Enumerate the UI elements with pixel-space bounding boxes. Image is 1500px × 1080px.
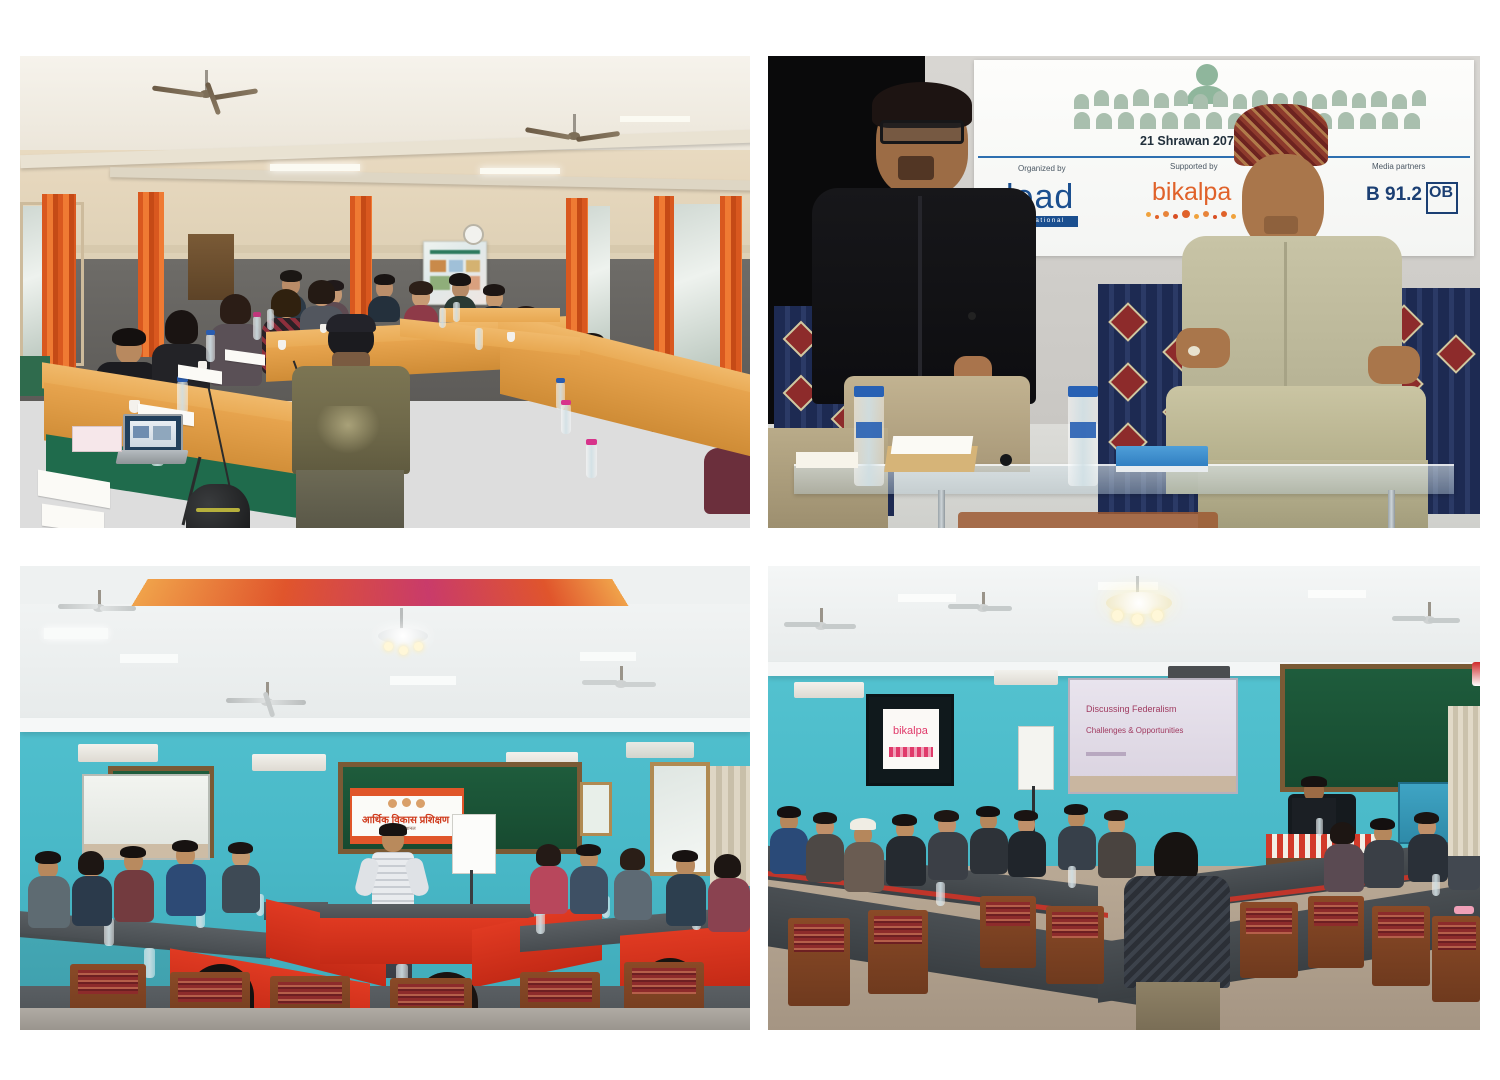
table-lower-shelf [958, 512, 1218, 528]
air-conditioner [626, 742, 694, 758]
organized-by-label: Organized by [1018, 164, 1066, 173]
table-leg [938, 490, 945, 528]
floor [20, 1008, 750, 1030]
backpack [186, 484, 250, 528]
water-bottle [1316, 818, 1323, 836]
bottle-cap [561, 400, 571, 405]
flag-decor [1472, 662, 1480, 686]
box [72, 426, 122, 452]
event-banner: आर्थिक विकास प्रशिक्षण लिड इन्टरनेशनल [350, 788, 464, 844]
media-partner-1: B 91.2 [1366, 184, 1422, 206]
table-leg [1388, 490, 1395, 528]
air-conditioner [78, 744, 158, 762]
lapel-microphone [968, 312, 976, 320]
banner-divider [978, 156, 1470, 158]
photo-top-left [20, 56, 750, 528]
air-conditioner [252, 754, 326, 771]
water-bottle [561, 404, 571, 434]
water-bottle [453, 302, 460, 322]
framed-poster: bikalpa [866, 694, 954, 786]
bottle-cap [854, 386, 884, 397]
water-bottle [177, 381, 188, 413]
pink-item [1454, 906, 1474, 914]
papers [796, 452, 858, 468]
water-bottle [253, 316, 261, 340]
media-partners-label: Media partners [1372, 162, 1425, 171]
flip-chart [452, 814, 496, 874]
curtain [720, 196, 742, 376]
fluorescent-light [898, 594, 956, 602]
photo-bottom-right: bikalpa Discussing Federalism Challenges… [768, 566, 1480, 1030]
water-bottle [936, 882, 945, 906]
photo-bottom-left: आर्थिक विकास प्रशिक्षण लिड इन्टरनेशनल [20, 566, 750, 1030]
fluorescent-light [580, 652, 636, 661]
handout [42, 504, 104, 528]
speaker-hair [1301, 776, 1327, 787]
water-bottle [1068, 394, 1098, 486]
water-bottle [439, 308, 446, 328]
blue-notebook [1116, 446, 1208, 468]
fluorescent-light [620, 116, 690, 122]
event-banner: 21 Shrawan 2074 | Biratnagar Organized b… [974, 60, 1474, 256]
water-bottle [206, 334, 215, 362]
paper-cup [507, 332, 515, 342]
water-bottle [475, 328, 483, 350]
fluorescent-light [480, 168, 560, 174]
air-conditioner [794, 682, 864, 698]
person-icon [1196, 64, 1218, 86]
laptop-screen [123, 414, 183, 455]
air-conditioner [994, 670, 1058, 685]
fluorescent-light [270, 164, 360, 171]
slide-subtitle: Challenges & Opportunities [1086, 726, 1183, 735]
bottle-cap [556, 378, 565, 383]
wall-cabinet [188, 234, 234, 300]
curtain [1448, 706, 1480, 856]
bikalpa-poster-logo: bikalpa [893, 725, 931, 737]
notebook-pages [1116, 466, 1208, 472]
eyeglasses [880, 120, 964, 144]
curtain [654, 196, 674, 376]
water-bottle [267, 309, 274, 330]
bikalpa-logo: bikalpa [1152, 180, 1231, 205]
fluorescent-light [120, 654, 178, 663]
projector-screen: Discussing Federalism Challenges & Oppor… [1068, 678, 1238, 794]
fluorescent-light [390, 676, 456, 685]
wall-trim [20, 245, 750, 253]
laptop-keyboard [116, 450, 189, 464]
window-small [580, 782, 612, 836]
bottle-cap [586, 439, 597, 445]
supported-by-label: Supported by [1170, 162, 1218, 171]
media-partner-2: OB [1429, 184, 1453, 202]
wall-clock [463, 224, 484, 245]
bottle-cap [206, 330, 215, 335]
ceiling-cornice [20, 718, 750, 732]
clipboard [884, 446, 978, 472]
water-bottle [854, 394, 884, 486]
paper-cup [278, 340, 286, 350]
bottle-cap [1068, 386, 1098, 397]
white-cap [850, 818, 876, 830]
photo-collage: 21 Shrawan 2074 | Biratnagar Organized b… [0, 0, 1500, 1080]
fluorescent-light [1308, 590, 1366, 598]
slide-title: Discussing Federalism [1086, 704, 1177, 714]
photo-top-right: 21 Shrawan 2074 | Biratnagar Organized b… [768, 56, 1480, 528]
fluorescent-light [1098, 582, 1158, 590]
fluorescent-light [44, 628, 108, 639]
microphone [1000, 454, 1012, 466]
ceiling-accent-light [132, 579, 629, 606]
flip-chart [1018, 726, 1054, 790]
water-bottle [1068, 866, 1076, 888]
water-bottle [1432, 874, 1440, 896]
ring [1188, 346, 1200, 356]
bottle-cap [253, 312, 261, 317]
water-bottle [586, 444, 597, 478]
